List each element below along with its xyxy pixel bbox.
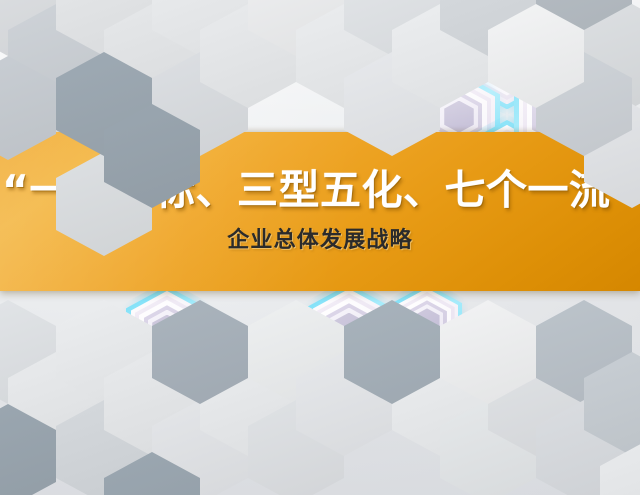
presentation-slide: “一个目标、三型五化、七个一流” 企业总体发展战略 — [0, 0, 640, 495]
slide-subtitle: 企业总体发展战略 — [227, 222, 413, 254]
